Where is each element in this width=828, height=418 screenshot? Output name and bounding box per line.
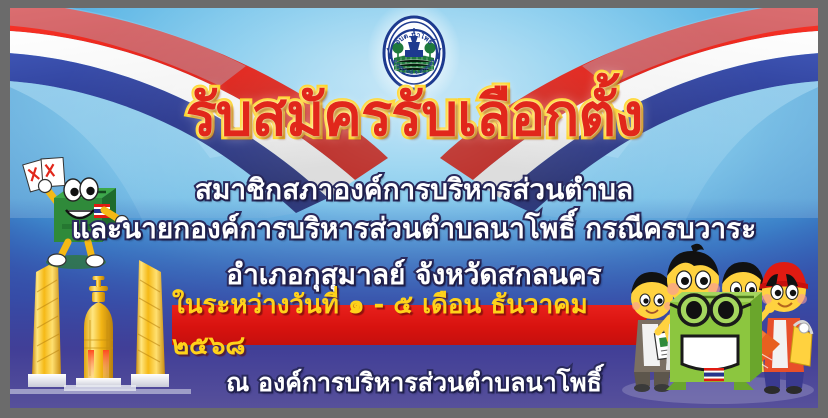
venue-text: ณ องค์การบริหารส่วนตำบลนาโพธิ์ [10, 363, 818, 403]
subtitle-line-2: และนายกองค์การบริหารส่วนตำบลนาโพธิ์ กรณี… [10, 207, 818, 251]
date-banner: ในระหว่างวันที่ ๑ - ๕ เดือน ธันวาคม ๒๕๖๘ [172, 305, 662, 345]
subtitle-line-1: สมาชิกสภาองค์การบริหารส่วนตำบล [10, 168, 818, 212]
headline-text: รับสมัครรับเลือกตั้ง [186, 86, 643, 144]
poster-canvas: อบต.นาโพธิ์ อ.กุสุมาลย์ จ.สกลนคร [10, 8, 818, 408]
date-banner-text: ในระหว่างวันที่ ๑ - ๕ เดือน ธันวาคม ๒๕๖๘ [172, 305, 662, 345]
poster-frame: อบต.นาโพธิ์ อ.กุสุมาลย์ จ.สกลนคร [0, 0, 828, 418]
headline-row: รับสมัครรับเลือกตั้ง [10, 86, 818, 144]
